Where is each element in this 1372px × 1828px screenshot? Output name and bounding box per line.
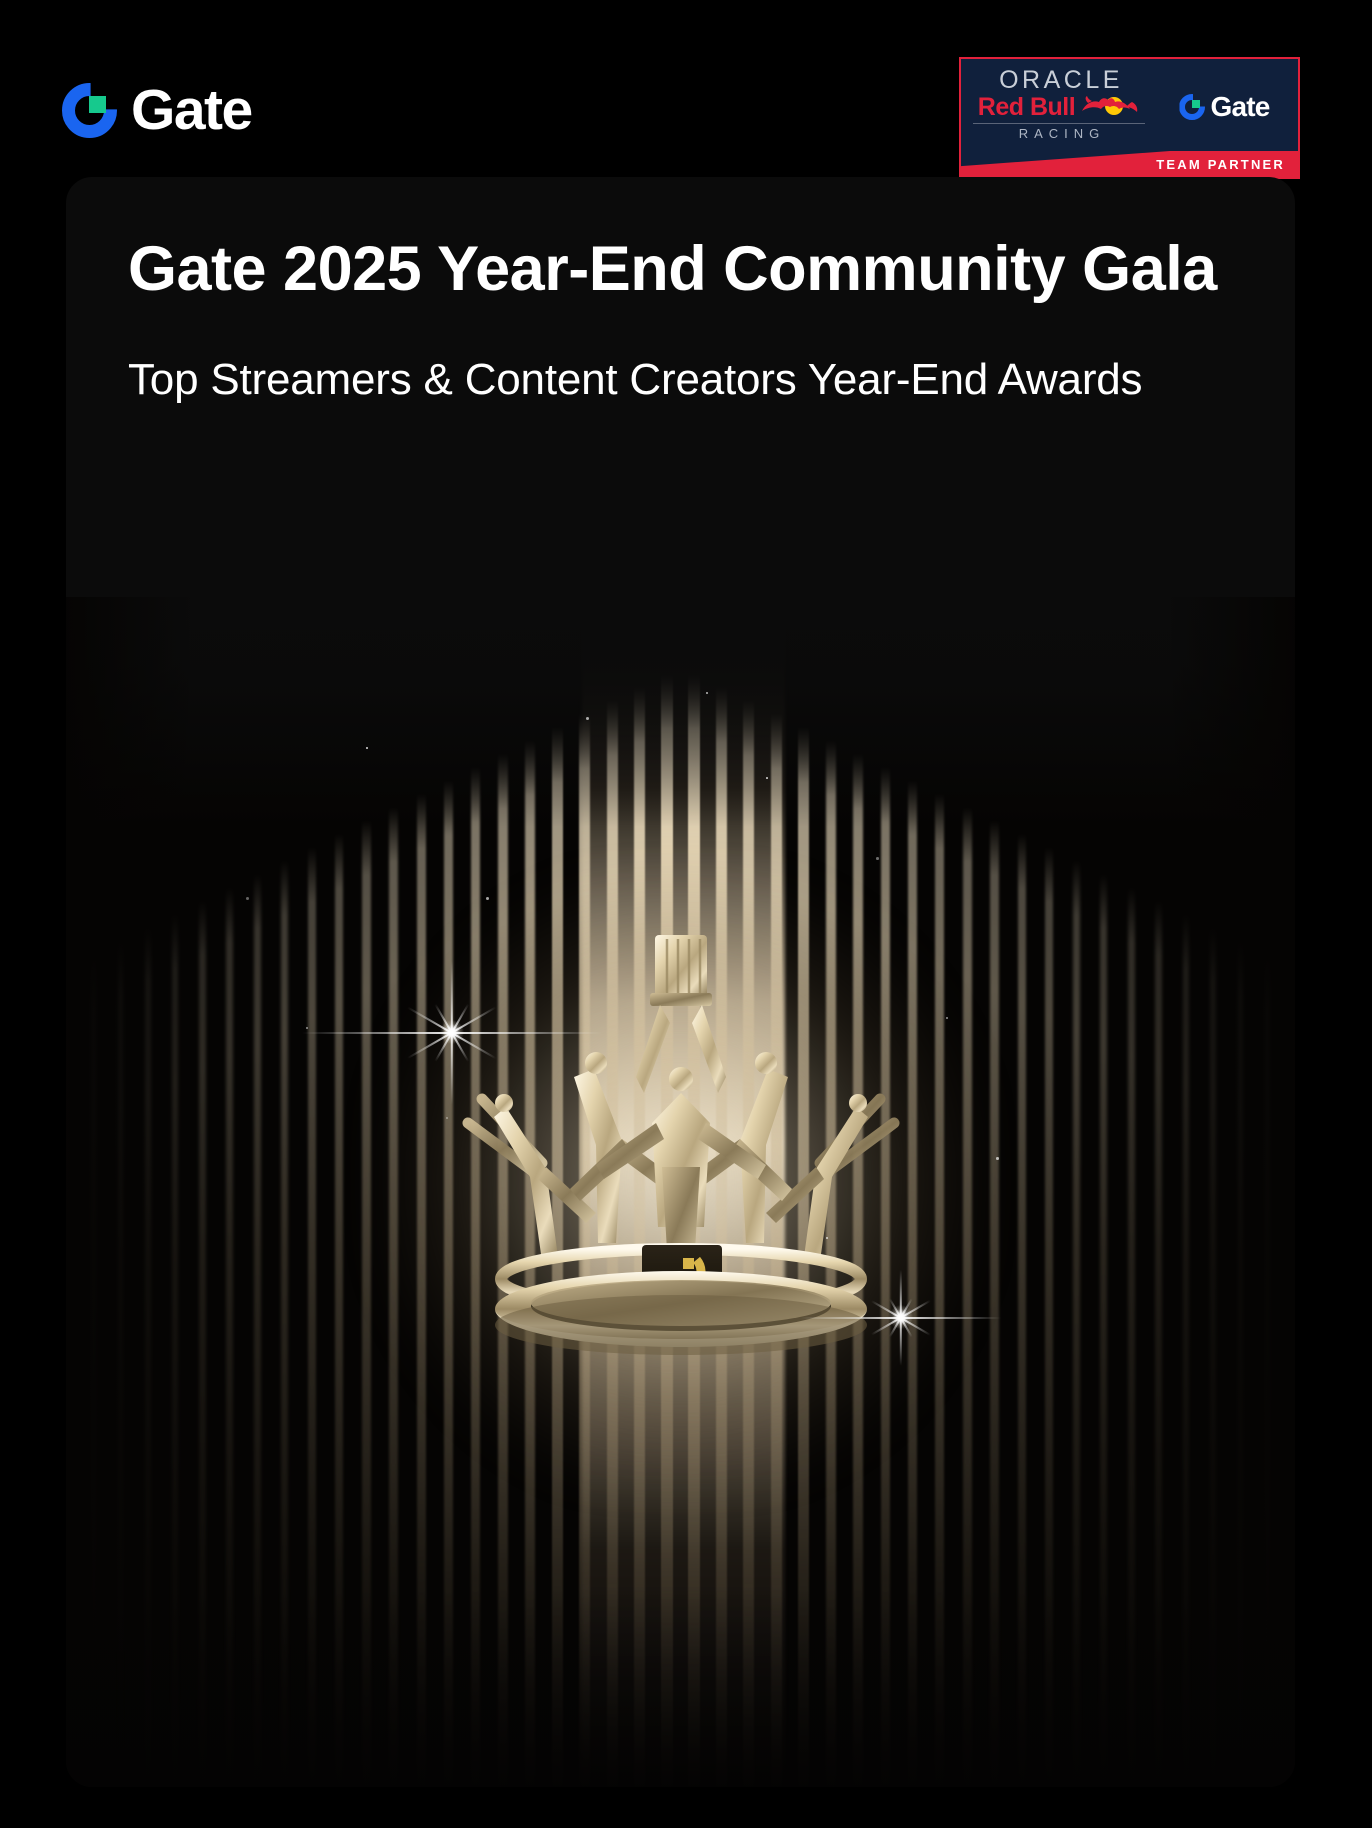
partner-gate-logo-icon bbox=[1179, 94, 1205, 120]
page-header: Gate ORACLE Red Bull bbox=[0, 0, 1372, 175]
event-card: Gate 2025 Year-End Community Gala Top St… bbox=[66, 177, 1295, 1787]
badge-divider bbox=[973, 123, 1145, 124]
crown-trophy-graphic bbox=[446, 927, 916, 1367]
dust-particle bbox=[876, 857, 879, 860]
dust-particle bbox=[706, 692, 708, 694]
dust-particle bbox=[366, 747, 368, 749]
page-subtitle: Top Streamers & Content Creators Year-En… bbox=[128, 351, 1233, 409]
hero-top-fade bbox=[66, 597, 1295, 827]
gate-logo-icon bbox=[62, 83, 117, 138]
page-title: Gate 2025 Year-End Community Gala bbox=[128, 232, 1233, 307]
partner-gate-lockup: Gate bbox=[1179, 93, 1269, 121]
oracle-red-bull-racing-partner-badge[interactable]: ORACLE Red Bull RACIN bbox=[959, 57, 1300, 179]
card-text-block: Gate 2025 Year-End Community Gala Top St… bbox=[66, 177, 1295, 409]
hero-image bbox=[66, 597, 1295, 1787]
dust-particle bbox=[486, 897, 489, 900]
promo-page: Gate ORACLE Red Bull bbox=[0, 0, 1372, 1828]
partner-gate-name: Gate bbox=[1210, 93, 1269, 121]
red-bull-wordmark: Red Bull bbox=[978, 95, 1075, 120]
dust-particle bbox=[766, 777, 768, 779]
red-bull-racing-lockup: ORACLE Red Bull RACIN bbox=[961, 59, 1157, 155]
oracle-wordmark: ORACLE bbox=[961, 67, 1157, 93]
dust-particle bbox=[996, 1157, 999, 1160]
racing-wordmark: RACING bbox=[961, 126, 1157, 141]
red-bull-charging-bulls-icon bbox=[1080, 94, 1140, 120]
gate-brand-logo[interactable]: Gate bbox=[62, 82, 252, 139]
gate-brand-name: Gate bbox=[131, 82, 252, 139]
hero-bottom-fade bbox=[66, 1587, 1295, 1787]
dust-particle bbox=[946, 1017, 948, 1019]
team-partner-label: TEAM PARTNER bbox=[1156, 157, 1285, 172]
